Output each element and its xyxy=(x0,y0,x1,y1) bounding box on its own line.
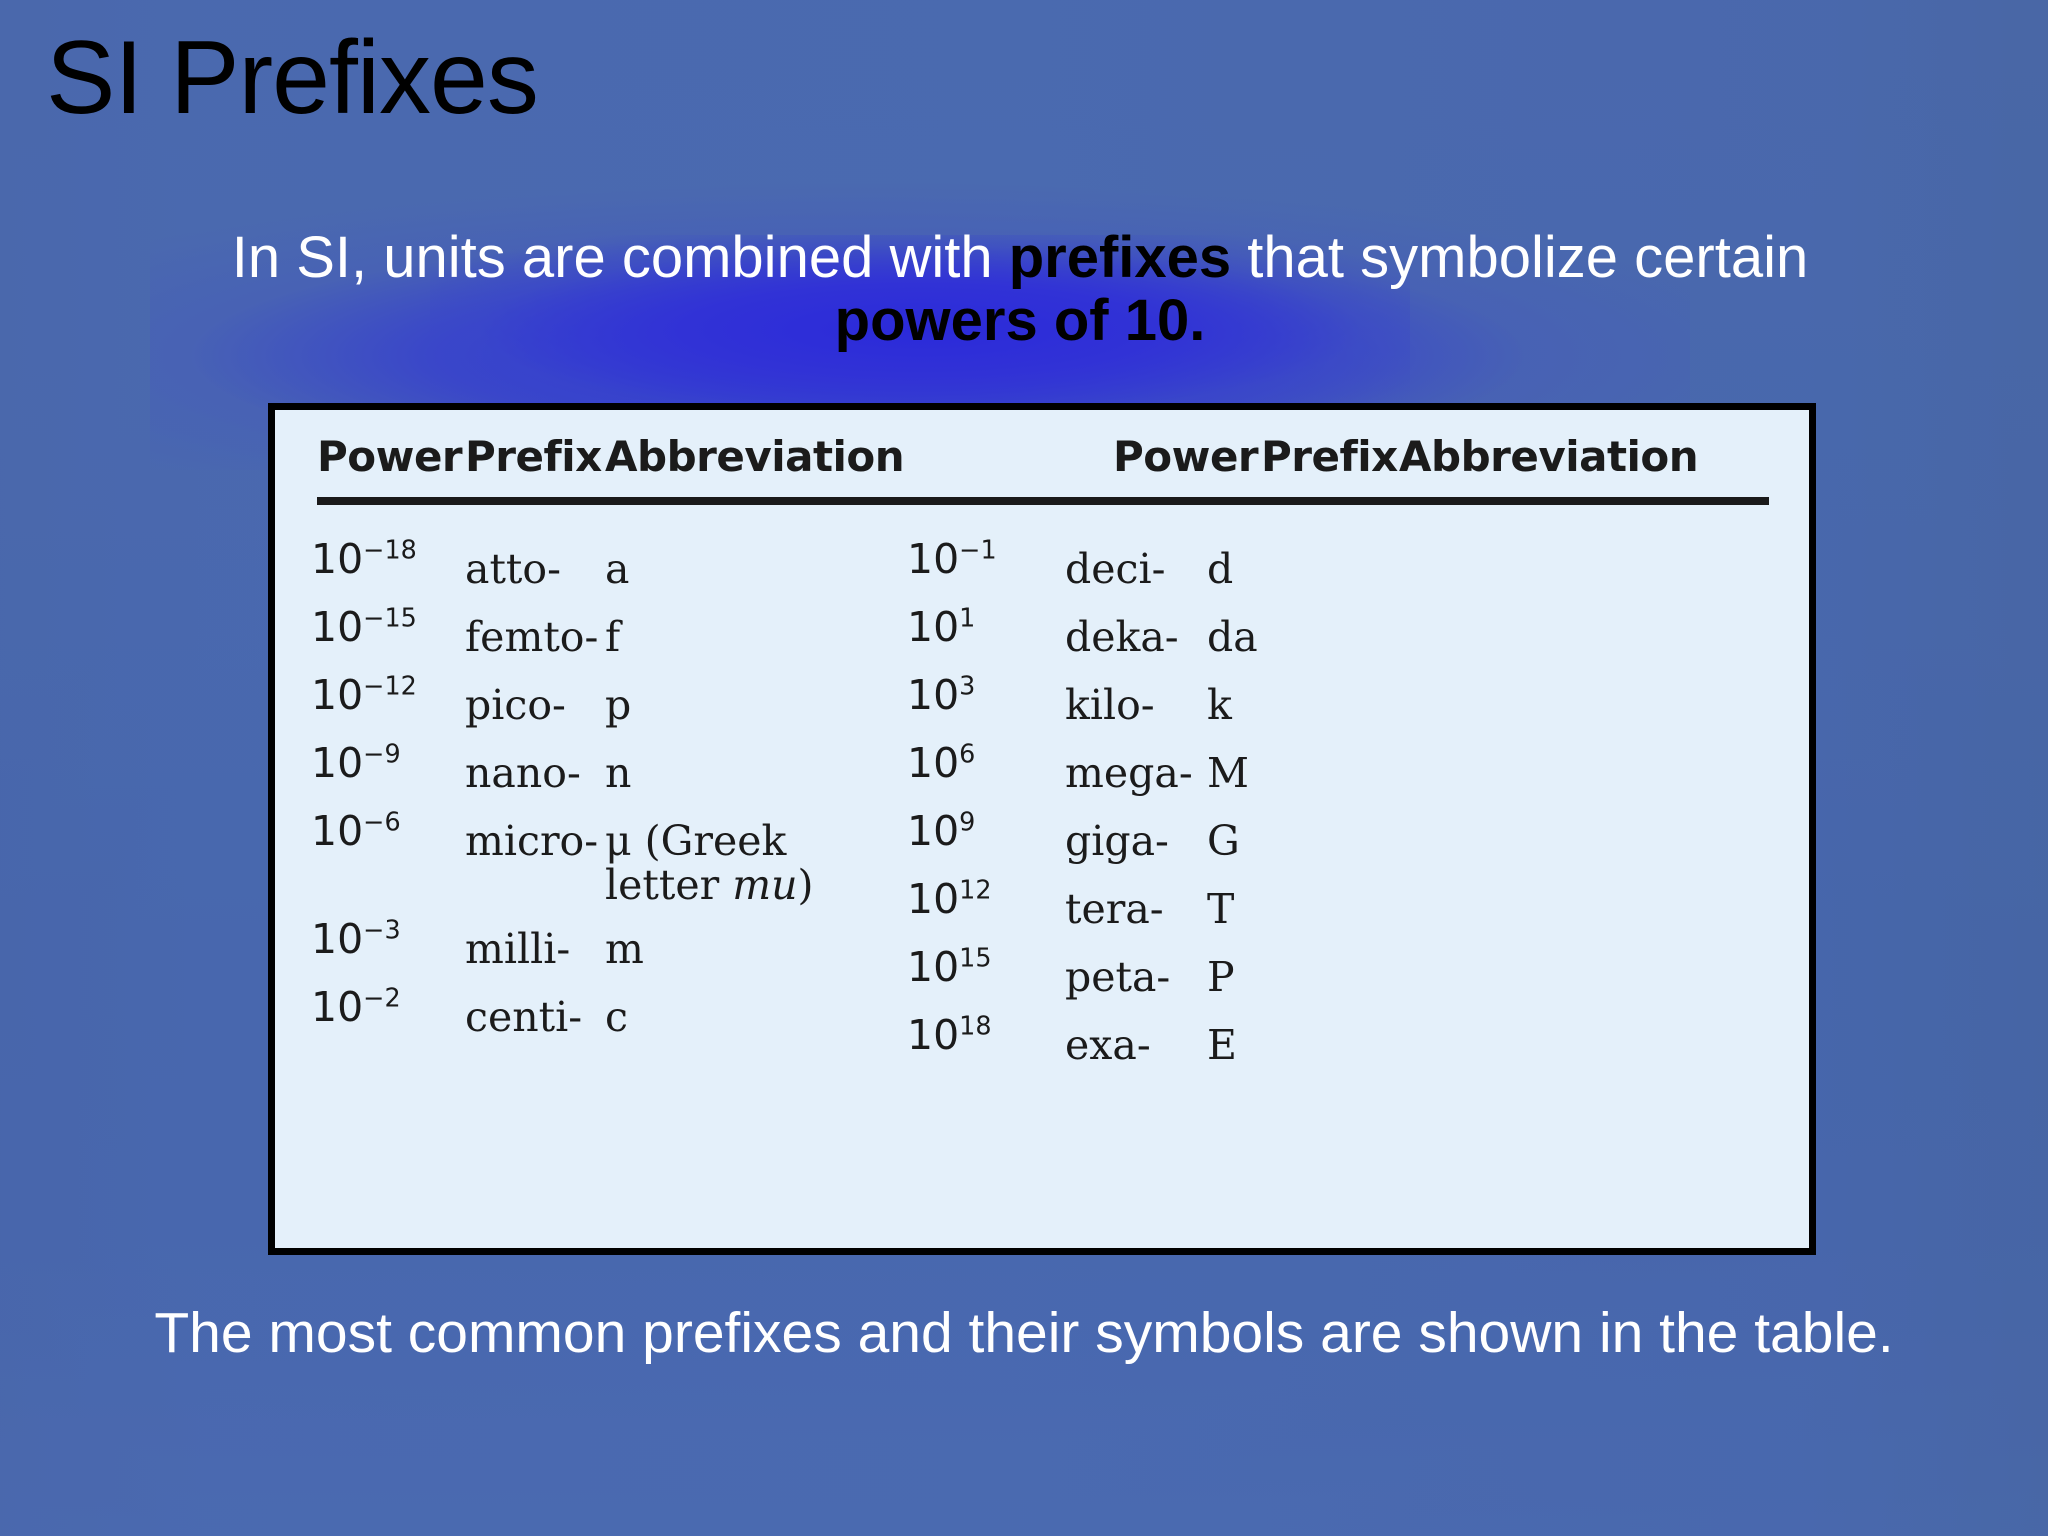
table-row-abbreviation-left: p xyxy=(605,681,631,729)
table-row-abbreviation-left: μ (Greek xyxy=(605,817,786,865)
table-row-prefix-right: peta- xyxy=(1065,953,1170,1001)
table-row-prefix-left: pico- xyxy=(465,681,566,729)
table-row-power-right: 1012 xyxy=(907,875,992,923)
page-title: SI Prefixes xyxy=(46,22,538,134)
table-row-power-right: 103 xyxy=(907,671,975,719)
subtitle-part-1: In SI, units are combined with xyxy=(232,225,1009,290)
table-header-row: Power Prefix Abbreviation Power Prefix A… xyxy=(275,432,1809,492)
table-row-prefix-right: tera- xyxy=(1065,885,1164,933)
table-row-prefix-right: deka- xyxy=(1065,613,1179,661)
table-row-abbreviation-right: k xyxy=(1207,681,1232,729)
table-header-power-right: Power xyxy=(1113,432,1258,481)
table-row-power-left: 10−18 xyxy=(311,535,417,583)
table-row-abbreviation-left-line2: letter mu) xyxy=(605,861,814,909)
table-row-abbreviation-right: E xyxy=(1207,1021,1237,1069)
table-row-prefix-right: deci- xyxy=(1065,545,1165,593)
table-row-abbreviation-right: d xyxy=(1207,545,1233,593)
table-row-power-right: 101 xyxy=(907,603,975,651)
table-row-abbreviation-right: da xyxy=(1207,613,1258,661)
table-row-prefix-left: micro- xyxy=(465,817,598,865)
table-row-abbreviation-right: P xyxy=(1207,953,1235,1001)
table-row-power-left: 10−9 xyxy=(311,739,401,787)
table-row-abbreviation-left: a xyxy=(605,545,629,593)
subtitle-bold-powers: powers of 10. xyxy=(835,288,1206,353)
table-row-prefix-left: femto- xyxy=(465,613,598,661)
table-row-prefix-left: centi- xyxy=(465,993,582,1041)
table-row-abbreviation-right: T xyxy=(1207,885,1234,933)
table-row-prefix-left: nano- xyxy=(465,749,581,797)
table-row-prefix-right: exa- xyxy=(1065,1021,1151,1069)
table-row-power-left: 10−2 xyxy=(311,983,401,1031)
table-row-abbreviation-left: m xyxy=(605,925,644,973)
slide-canvas: SI Prefixes In SI, units are combined wi… xyxy=(0,0,2048,1536)
table-row-abbreviation-left: c xyxy=(605,993,628,1041)
table-header-abbreviation-right: Abbreviation xyxy=(1399,432,1698,481)
footer-caption: The most common prefixes and their symbo… xyxy=(0,1300,2048,1366)
table-row-power-right: 10−1 xyxy=(907,535,997,583)
table-row-power-left: 10−3 xyxy=(311,915,401,963)
table-row-prefix-left: milli- xyxy=(465,925,570,973)
table-row-power-right: 106 xyxy=(907,739,975,787)
table-row-prefix-left: atto- xyxy=(465,545,561,593)
table-header-rule xyxy=(317,497,1769,505)
table-row-abbreviation-right: M xyxy=(1207,749,1249,797)
table-header-power-left: Power xyxy=(317,432,462,481)
subtitle-part-2: that symbolize certain xyxy=(1231,225,1808,290)
table-row-power-left: 10−6 xyxy=(311,807,401,855)
table-row-power-right: 1018 xyxy=(907,1011,992,1059)
table-row-abbreviation-right: G xyxy=(1207,817,1240,865)
si-prefix-table: Power Prefix Abbreviation Power Prefix A… xyxy=(268,403,1816,1255)
table-row-prefix-right: kilo- xyxy=(1065,681,1155,729)
table-row-power-right: 109 xyxy=(907,807,975,855)
table-row-abbreviation-left: n xyxy=(605,749,631,797)
table-row-power-right: 1015 xyxy=(907,943,992,991)
table-header-prefix-left: Prefix xyxy=(465,432,602,481)
table-header-prefix-right: Prefix xyxy=(1261,432,1398,481)
table-row-power-left: 10−15 xyxy=(311,603,417,651)
subtitle-text: In SI, units are combined with prefixes … xyxy=(150,226,1890,352)
table-row-prefix-right: giga- xyxy=(1065,817,1169,865)
table-header-abbreviation-left: Abbreviation xyxy=(605,432,904,481)
table-row-abbreviation-left: f xyxy=(605,613,620,661)
subtitle-bold-prefixes: prefixes xyxy=(1009,225,1231,290)
table-row-prefix-right: mega- xyxy=(1065,749,1193,797)
table-row-power-left: 10−12 xyxy=(311,671,417,719)
